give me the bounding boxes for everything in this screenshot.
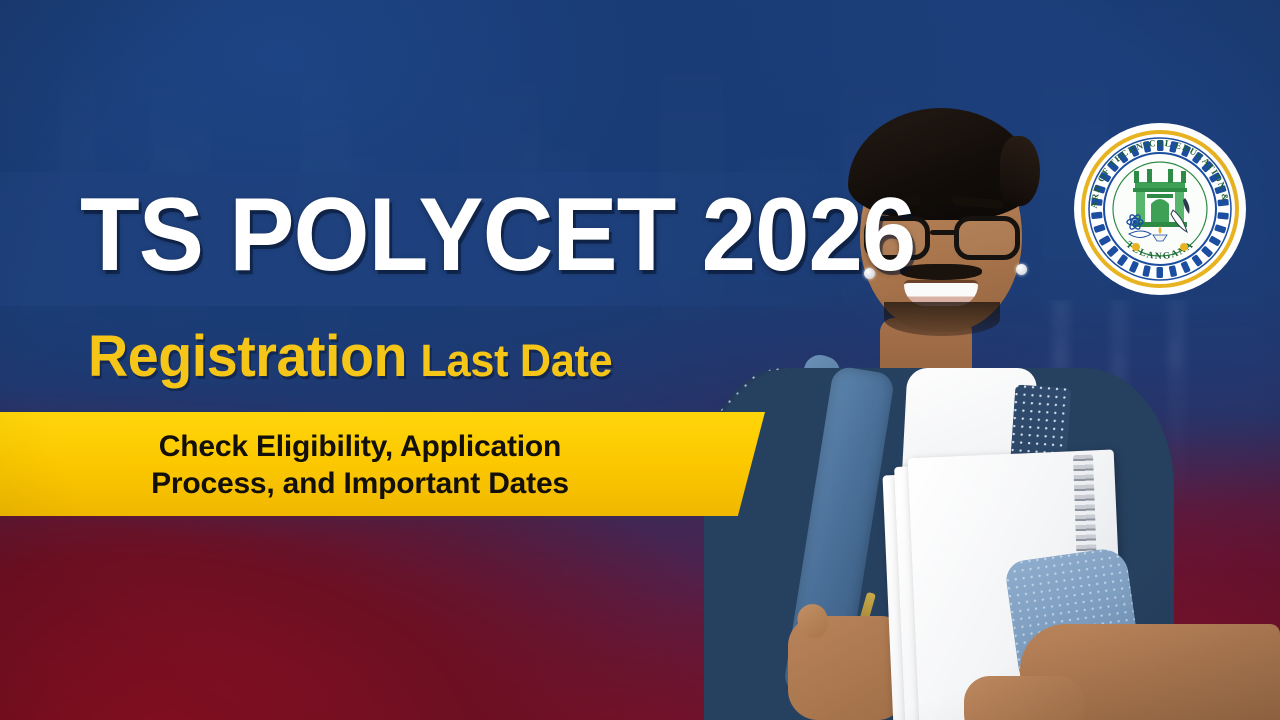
page-title: TS POLYCET 2026 <box>80 183 915 287</box>
subtitle-text: Check Eligibility, Application Process, … <box>0 419 720 511</box>
headline-last-date: Last Date <box>421 330 613 392</box>
hand-gripping-strap <box>788 616 904 720</box>
subtitle-line-2: Process, and Important Dates <box>151 465 569 502</box>
lens-right <box>954 216 1020 260</box>
glasses-bridge <box>930 230 956 235</box>
beard-shadow <box>884 302 1000 336</box>
subtitle-line-1: Check Eligibility, Application <box>159 428 561 465</box>
promo-banner: STATE BOARD OF TECHNICAL EDUCATION & TRA… <box>0 0 1280 720</box>
earring-right <box>1016 264 1027 275</box>
headline-registration: Registration <box>88 326 407 388</box>
headline-row: Registration Last Date <box>88 326 612 392</box>
sbtet-telangana-seal-logo: STATE BOARD OF TECHNICAL EDUCATION & TRA… <box>1073 122 1247 296</box>
hand-holding-books <box>964 676 1084 720</box>
